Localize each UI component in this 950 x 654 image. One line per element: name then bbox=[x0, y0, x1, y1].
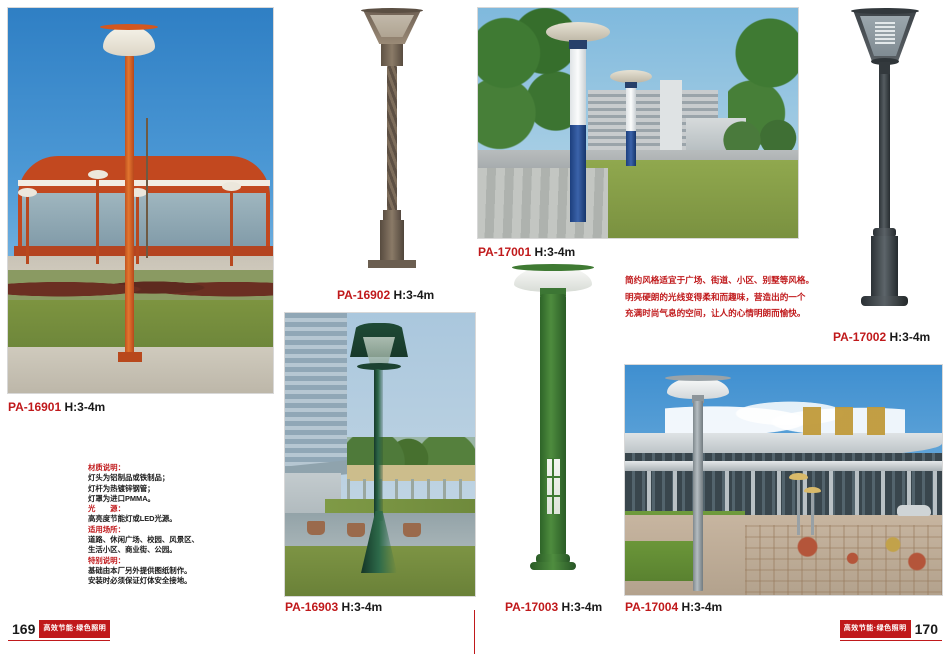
background-lamp-shade bbox=[88, 170, 108, 179]
lawn bbox=[8, 300, 273, 350]
caption-pa-17002: PA-17002 H:3-4m bbox=[833, 330, 930, 344]
product-photo-pa-17003[interactable] bbox=[497, 258, 607, 598]
product-photo-pa-17001[interactable] bbox=[478, 8, 798, 238]
background-lamp-shade bbox=[789, 473, 808, 480]
description-line: 明亮硬朗的光线变得柔和而趣味，营造出的一个 bbox=[625, 289, 814, 306]
spec-material-line: 灯头为铝制品或铁制品； bbox=[88, 473, 199, 483]
main-lamp-collar bbox=[100, 24, 158, 30]
spec-special-heading: 特别说明： bbox=[88, 556, 199, 566]
lamp-white-section-near bbox=[570, 49, 586, 125]
lamp-shade-near-pa-17001 bbox=[546, 22, 610, 42]
spec-application-line: 道路、休闲广场、校园、风景区、 bbox=[88, 535, 199, 545]
specification-block: 材质说明： 灯头为铝制品或铁制品； 灯杆为热镀锌钢管； 灯罩为进口PMMA。 光… bbox=[88, 463, 199, 587]
lawn bbox=[578, 160, 798, 238]
main-lamp-base bbox=[118, 352, 142, 362]
pole-foot bbox=[380, 220, 404, 262]
folio-rule bbox=[8, 640, 110, 642]
caption-pa-16901: PA-16901 H:3-4m bbox=[8, 400, 105, 414]
folio-rule bbox=[840, 640, 942, 642]
description-line: 充满时尚气息的空间，让人的心情明朗而愉快。 bbox=[625, 305, 814, 322]
lamp-pole-pa-16903 bbox=[374, 369, 383, 521]
background-lamp-shade bbox=[18, 188, 37, 197]
folio-left: 169 高效节能·绿色照明 bbox=[8, 620, 110, 638]
parked-car bbox=[897, 505, 931, 516]
folio-right: 高效节能·绿色照明 170 bbox=[840, 620, 942, 638]
description-line: 简约风格适宜于广场、街道、小区、别墅等风格。 bbox=[625, 272, 814, 289]
style-description: 简约风格适宜于广场、街道、小区、别墅等风格。 明亮硬朗的光线变得柔和而趣味，营造… bbox=[625, 272, 814, 322]
background-lamp-pole bbox=[797, 477, 800, 535]
planter-pot bbox=[403, 523, 421, 537]
neck-collar bbox=[381, 44, 403, 66]
pole-mid-ring bbox=[383, 210, 401, 220]
lamp-pole-pa-16902 bbox=[387, 66, 397, 214]
lamp-column-pa-17003 bbox=[540, 294, 566, 556]
product-height: H:3-4m bbox=[394, 288, 435, 302]
page-number-left: 169 bbox=[8, 620, 39, 638]
shade-rim bbox=[512, 264, 594, 271]
lamp-blue-section-near bbox=[570, 125, 586, 222]
catalog-spread: PA-16901 H:3-4m PA-16902 H:3-4m bbox=[0, 0, 950, 654]
product-height: H:3-4m bbox=[682, 600, 723, 614]
product-photo-pa-16901[interactable] bbox=[8, 8, 273, 393]
shade-rim bbox=[851, 8, 919, 14]
caption-pa-16902: PA-16902 H:3-4m bbox=[337, 288, 434, 302]
planter-pot bbox=[347, 523, 365, 537]
product-photo-pa-16902[interactable] bbox=[337, 4, 447, 282]
lawn-foreground bbox=[625, 541, 695, 581]
spec-application-heading: 适用场所： bbox=[88, 525, 199, 535]
caption-pa-16903: PA-16903 H:3-4m bbox=[285, 600, 382, 614]
terminal-columns bbox=[625, 471, 942, 515]
lamp-pole-pa-17002 bbox=[879, 74, 890, 231]
lamp-white-section-far bbox=[626, 88, 636, 131]
product-code: PA-17001 bbox=[478, 245, 531, 259]
product-height: H:3-4m bbox=[535, 245, 576, 259]
product-code: PA-16901 bbox=[8, 400, 61, 414]
background-lamp bbox=[96, 176, 99, 264]
spec-material-line: 灯罩为进口PMMA。 bbox=[88, 494, 199, 504]
base-plate bbox=[368, 260, 416, 268]
product-code: PA-16903 bbox=[285, 600, 338, 614]
building-tower bbox=[660, 80, 682, 152]
lamp-louvre bbox=[875, 22, 895, 44]
product-height: H:3-4m bbox=[65, 400, 106, 414]
spec-material-line: 灯杆为热镀锌钢管； bbox=[88, 484, 199, 494]
footer-tagline-right: 高效节能·绿色照明 bbox=[840, 620, 911, 638]
lamp-collar-near bbox=[569, 40, 587, 49]
footer-tagline-left: 高效节能·绿色照明 bbox=[39, 620, 110, 638]
spec-special-line: 基础由本厂另外提供图纸制作。 bbox=[88, 566, 199, 576]
spec-application-line: 生活小区、商业街、公园。 bbox=[88, 545, 199, 555]
background-lamp-pole bbox=[811, 491, 814, 535]
shade-rim bbox=[665, 375, 731, 381]
shrub-row-dark bbox=[8, 270, 273, 302]
terminal-canopy bbox=[625, 461, 942, 471]
caption-pa-17003: PA-17003 H:3-4m bbox=[505, 600, 602, 614]
page-number-right: 170 bbox=[911, 620, 942, 638]
main-lamp-pole-pa-16901 bbox=[125, 56, 134, 361]
office-tower bbox=[285, 313, 347, 473]
spec-material-heading: 材质说明： bbox=[88, 463, 199, 473]
product-height: H:3-4m bbox=[562, 600, 603, 614]
product-code: PA-17002 bbox=[833, 330, 886, 344]
walkway bbox=[478, 168, 608, 238]
spread-gutter-line bbox=[474, 610, 475, 654]
product-height: H:3-4m bbox=[890, 330, 931, 344]
product-photo-pa-16903[interactable] bbox=[285, 313, 475, 596]
caption-pa-17004: PA-17004 H:3-4m bbox=[625, 600, 722, 614]
product-photo-pa-17004[interactable] bbox=[625, 365, 942, 595]
background-lamp bbox=[26, 194, 29, 264]
product-code: PA-16902 bbox=[337, 288, 390, 302]
product-code: PA-17003 bbox=[505, 600, 558, 614]
lamp-pole-pa-17004 bbox=[693, 401, 703, 591]
column-window-mullions bbox=[547, 458, 560, 514]
product-photo-pa-17002[interactable] bbox=[827, 4, 942, 324]
bare-tree bbox=[146, 118, 148, 258]
pergola-posts bbox=[347, 479, 475, 501]
spec-light-source-line: 高亮度节能灯或LED光源。 bbox=[88, 514, 199, 524]
background-lamp bbox=[136, 194, 139, 264]
caption-pa-17001: PA-17001 H:3-4m bbox=[478, 245, 575, 259]
paving-red-accents bbox=[785, 533, 935, 579]
product-height: H:3-4m bbox=[342, 600, 383, 614]
spec-light-source-heading: 光 源： bbox=[88, 504, 199, 514]
base-plate bbox=[861, 296, 908, 306]
background-lamp-shade bbox=[222, 182, 241, 191]
product-code: PA-17004 bbox=[625, 600, 678, 614]
planter-pot bbox=[307, 521, 325, 535]
terminal-signage bbox=[801, 407, 931, 435]
base-plate bbox=[530, 562, 576, 570]
shade-rim bbox=[361, 8, 423, 13]
base-column bbox=[871, 236, 898, 298]
background-lamp-shade bbox=[804, 487, 821, 493]
lamp-blue-section-far bbox=[626, 131, 636, 166]
spec-special-line: 安装时必须保证灯体安全接地。 bbox=[88, 576, 199, 586]
background-lamp bbox=[230, 188, 233, 266]
